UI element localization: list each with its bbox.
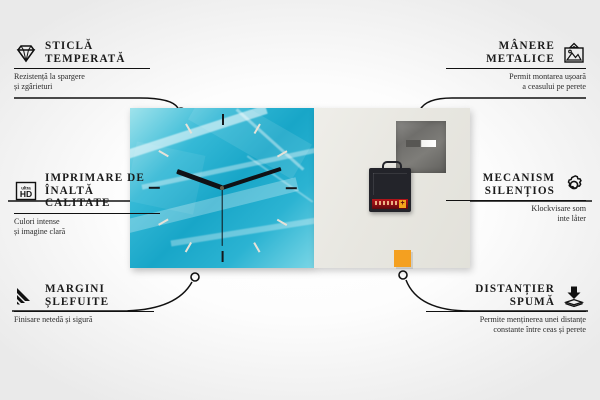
polished-edges-icon bbox=[14, 284, 38, 308]
feature-subtitle: Permite menținerea unei distanțe constan… bbox=[426, 315, 586, 335]
svg-text:HD: HD bbox=[20, 189, 32, 199]
ultra-hd-icon: ultra HD bbox=[14, 179, 38, 203]
down-arrow-stack-icon bbox=[562, 284, 586, 308]
infographic-canvas: + STICLĂ TEMPERATĂ Rezistență la sparger… bbox=[0, 0, 600, 400]
feature-title: IMPRIMARE DE ÎNALTĂ CALITATE bbox=[45, 172, 160, 210]
feature-title: MECANISM SILENȚIOS bbox=[483, 172, 555, 197]
feature-foam-spacer: DISTANȚIER SPUMĂ Permite menținerea unei… bbox=[426, 283, 586, 335]
feature-tempered-glass: STICLĂ TEMPERATĂ Rezistență la spargere … bbox=[14, 40, 150, 92]
feature-title: DISTANȚIER SPUMĂ bbox=[475, 283, 555, 308]
divider bbox=[426, 311, 586, 312]
divider bbox=[14, 213, 160, 214]
divider bbox=[14, 68, 150, 69]
feature-polished-edges: MARGINI ȘLEFUITE Finisare netedă și sigu… bbox=[14, 283, 154, 325]
clock-mechanism-part: + bbox=[369, 168, 411, 212]
feature-subtitle: Rezistență la spargere și zgârieturi bbox=[14, 72, 150, 92]
feature-subtitle: Permit montarea ușoară a ceasului pe per… bbox=[446, 72, 586, 92]
feature-subtitle: Klockvisare som inte låter bbox=[446, 204, 586, 224]
clock-pivot bbox=[220, 186, 224, 190]
foam-spacer-part bbox=[394, 250, 411, 267]
feature-title: MÂNERE METALICE bbox=[486, 40, 555, 65]
feature-title: MARGINI ȘLEFUITE bbox=[45, 283, 109, 308]
battery-plus-label: + bbox=[399, 200, 406, 208]
feature-high-quality-print: ultra HD IMPRIMARE DE ÎNALTĂ CALITATE Cu… bbox=[14, 172, 160, 237]
feature-silent-mechanism: MECANISM SILENȚIOS Klockvisare som inte … bbox=[446, 172, 586, 224]
picture-frame-icon bbox=[562, 41, 586, 65]
feature-title: STICLĂ TEMPERATĂ bbox=[45, 40, 126, 65]
diamond-icon bbox=[14, 41, 38, 65]
clock-hand-second bbox=[221, 188, 222, 246]
feature-metal-handles: MÂNERE METALICE Permit montarea ușoară a… bbox=[446, 40, 586, 92]
divider bbox=[446, 68, 586, 69]
connector-tempered-glass bbox=[14, 98, 178, 108]
metal-hanger-part bbox=[396, 121, 446, 173]
battery-part: + bbox=[372, 199, 408, 209]
feature-subtitle: Culori intense și imagine clară bbox=[14, 217, 160, 237]
divider bbox=[446, 200, 586, 201]
feature-subtitle: Finisare netedă și sigură bbox=[14, 315, 154, 325]
connector-endpoint-edges bbox=[191, 273, 199, 281]
connector-endpoint-spacer bbox=[399, 271, 407, 279]
gear-icon bbox=[562, 173, 586, 197]
divider bbox=[14, 311, 154, 312]
